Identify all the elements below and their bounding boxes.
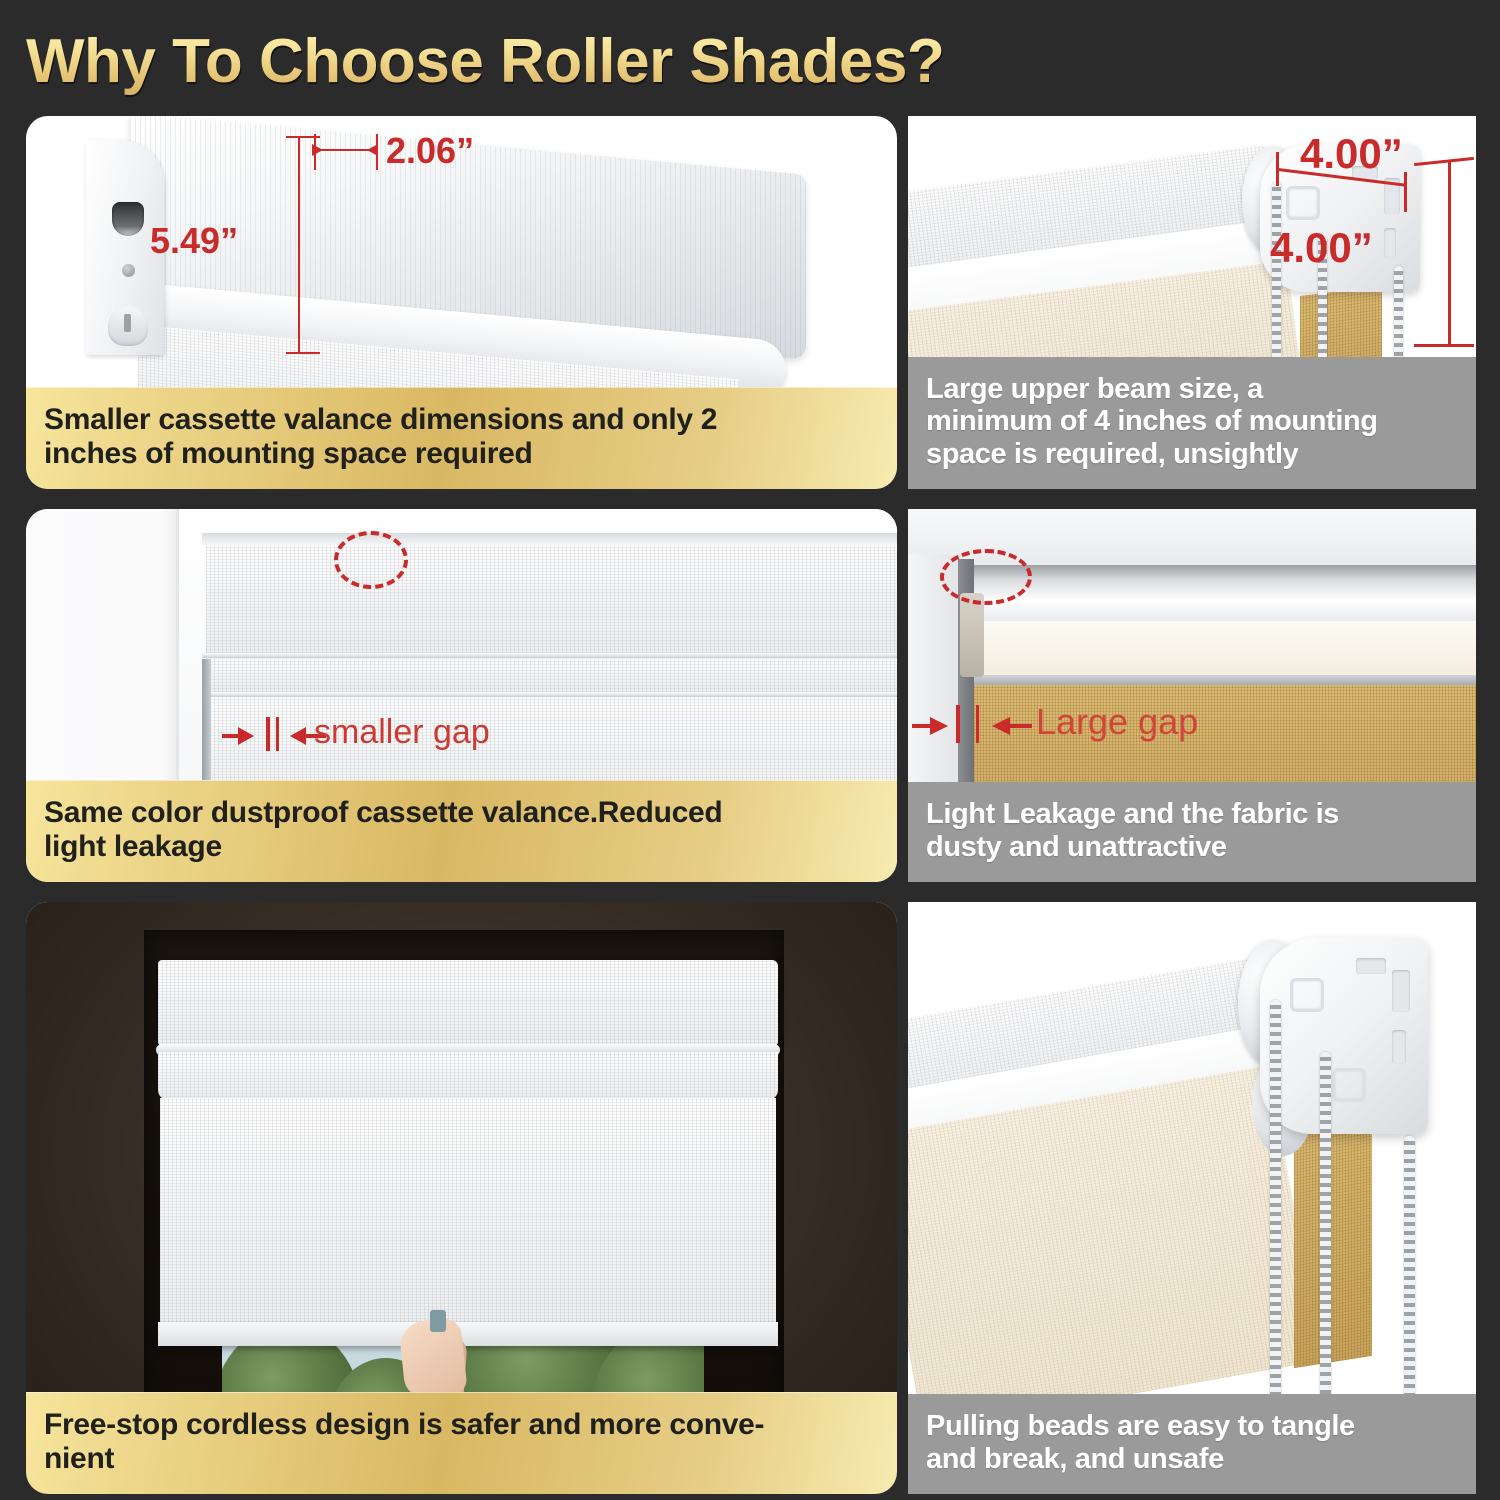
dim-label-width: 2.06”: [386, 130, 474, 172]
dim-label-height: 4.00”: [1270, 224, 1373, 272]
caption-line: Free-stop cordless design is safer and m…: [44, 1408, 879, 1442]
bracket-mechanism: [960, 593, 984, 677]
caption-mid-left: Same color dustproof cassette valance.Re…: [26, 780, 897, 882]
bracket-slot-icon: [1356, 958, 1386, 974]
gap-label: Large gap: [1036, 701, 1198, 743]
caption-line: light leakage: [44, 830, 879, 864]
caption-bottom-left: Free-stop cordless design is safer and m…: [26, 1392, 897, 1494]
panel-mid-right: Large gap Light Leakage and the fabric i…: [908, 509, 1476, 882]
roller-tube: [158, 1052, 778, 1100]
dim-cap-top: [1414, 157, 1474, 166]
bracket-emboss-icon: [1332, 1068, 1366, 1102]
highlight-circle-icon: [334, 531, 408, 589]
cassette-face: [206, 545, 897, 653]
panel-bottom-right: Pulling beads are easy to tangle and bre…: [908, 902, 1476, 1494]
cassette-lip: [202, 533, 897, 545]
metal-rail: [970, 675, 1476, 685]
bracket-slot-icon: [1392, 1030, 1406, 1064]
roller-tube: [970, 565, 1476, 625]
caption-line: dusty and unattractive: [926, 831, 1458, 864]
caption-top-left: Smaller cassette valance dimensions and …: [26, 387, 897, 489]
caption-top-right: Large upper beam size, a minimum of 4 in…: [908, 357, 1476, 489]
caption-line: Smaller cassette valance dimensions and …: [44, 403, 879, 437]
panel-top-left: 2.06” 5.49” Smaller cassette valance dim…: [26, 116, 897, 489]
gap-arrow-right-icon: [290, 727, 306, 745]
dim-cap-bottom: [1414, 344, 1474, 347]
bracket-clip-icon: [108, 306, 148, 346]
caption-bottom-right: Pulling beads are easy to tangle and bre…: [908, 1394, 1476, 1494]
dim-cap-top: [286, 136, 320, 138]
caption-mid-right: Light Leakage and the fabric is dusty an…: [908, 782, 1476, 882]
gap-arrow-left-icon: [238, 727, 254, 745]
dim-arrow-right-icon: [367, 144, 378, 156]
panel-bottom-left: Free-stop cordless design is safer and m…: [26, 902, 897, 1494]
gap-tick: [956, 705, 960, 743]
bracket-slot-icon: [112, 202, 144, 236]
gap-arrow-left-icon: [930, 717, 948, 735]
caption-line: Same color dustproof cassette valance.Re…: [44, 796, 879, 830]
dim-label-height: 5.49”: [150, 220, 238, 262]
dim-line-height: [298, 136, 300, 354]
dim-label-width: 4.00”: [1300, 130, 1403, 178]
page-title-container: Why To Choose Roller Shades?: [26, 16, 1126, 108]
pull-tab[interactable]: [430, 1310, 446, 1332]
dim-line-height: [1448, 160, 1451, 346]
dim-arrow-left-icon: [312, 144, 323, 156]
panel-mid-left: smaller gap Same color dustproof cassett…: [26, 509, 897, 882]
gap-tick: [276, 717, 279, 751]
bracket-emboss-icon: [1286, 186, 1320, 220]
gap-line-right: [1008, 724, 1032, 728]
gap-tick: [266, 717, 270, 751]
cassette-valance: [158, 960, 778, 1046]
caption-line: space is required, unsightly: [926, 438, 1458, 471]
shade-fabric: [160, 1098, 776, 1328]
gap-label: smaller gap: [314, 713, 490, 752]
bracket-slot-icon: [1384, 228, 1396, 258]
mounting-bracket: [1260, 938, 1428, 1134]
caption-line: Pulling beads are easy to tangle: [926, 1410, 1458, 1443]
caption-line: Large upper beam size, a: [926, 373, 1458, 406]
gap-arrow-right-icon: [992, 717, 1010, 735]
bottom-rail: [158, 1322, 778, 1346]
page-title: Why To Choose Roller Shades?: [26, 16, 1126, 108]
caption-line: and break, and unsafe: [926, 1443, 1458, 1476]
caption-line: Light Leakage and the fabric is: [926, 798, 1458, 831]
panel-top-right: 4.00” 4.00” Large upper beam size, a min…: [908, 116, 1476, 489]
cream-fabric-band: [972, 621, 1476, 677]
highlight-circle-icon: [940, 549, 1032, 605]
bracket-screw-icon: [122, 264, 135, 277]
caption-line: inches of mounting space required: [44, 437, 879, 471]
bracket-slot-icon: [1392, 970, 1410, 1012]
caption-line: minimum of 4 inches of mounting: [926, 405, 1458, 438]
dim-cap-bottom: [286, 352, 320, 354]
roller-tube-face: [206, 658, 897, 692]
dim-tick-right: [1404, 172, 1407, 212]
bracket-emboss-icon: [1290, 978, 1324, 1012]
gap-tick: [976, 705, 979, 743]
comparison-grid: 2.06” 5.49” Smaller cassette valance dim…: [0, 116, 1500, 1494]
caption-line: nient: [44, 1442, 879, 1476]
